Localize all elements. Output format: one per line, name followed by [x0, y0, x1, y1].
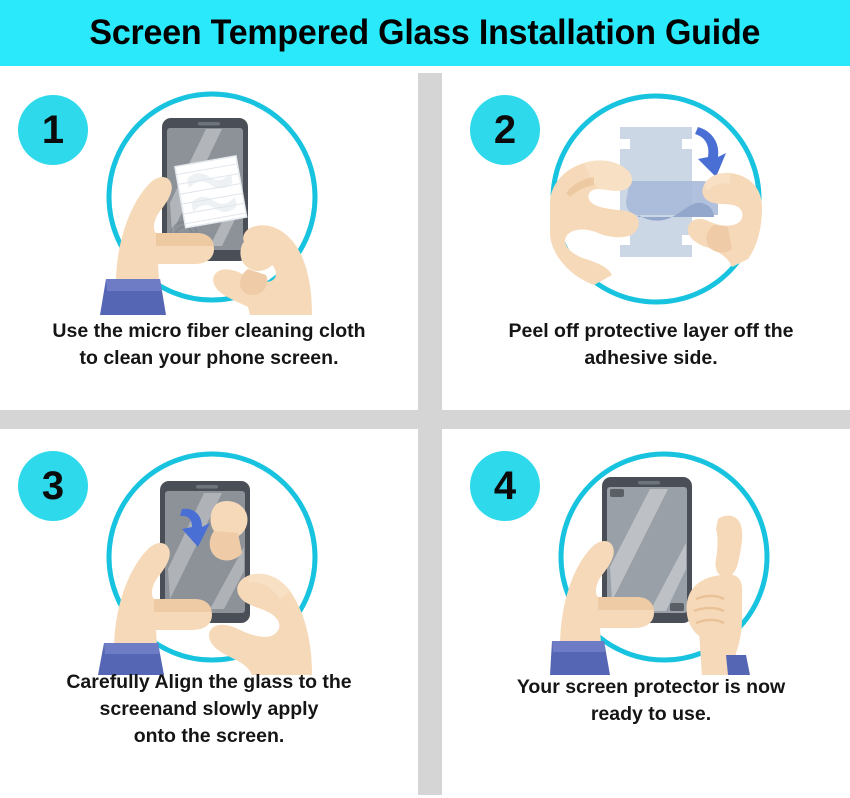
caption-line: to clean your phone screen.	[10, 345, 408, 372]
caption-line: adhesive side.	[452, 345, 850, 372]
illustration-thumbs-up	[550, 443, 778, 675]
step-panel-2: 2	[442, 73, 850, 410]
step-panel-3: 3	[0, 429, 418, 766]
step-number-badge: 3	[18, 451, 88, 521]
page-header: Screen Tempered Glass Installation Guide	[0, 0, 850, 66]
step-panel-4: 4	[442, 429, 850, 766]
illustration-align-glass	[98, 443, 326, 675]
step-caption-3: Carefully Align the glass to the screena…	[10, 669, 408, 750]
step-number-badge: 4	[470, 451, 540, 521]
step-caption-2: Peel off protective layer off the adhesi…	[452, 318, 850, 372]
caption-line: Your screen protector is now	[452, 674, 850, 701]
horizontal-divider	[0, 410, 850, 429]
caption-line: Use the micro fiber cleaning cloth	[10, 318, 408, 345]
caption-line: ready to use.	[452, 701, 850, 728]
illustration-peel-film	[542, 85, 770, 317]
step-panel-1: 1	[0, 73, 418, 410]
installation-guide-page: Screen Tempered Glass Installation Guide…	[0, 0, 850, 798]
step-caption-1: Use the micro fiber cleaning cloth to cl…	[10, 318, 408, 372]
step-caption-4: Your screen protector is now ready to us…	[452, 674, 850, 728]
caption-line: Peel off protective layer off the	[452, 318, 850, 345]
page-title: Screen Tempered Glass Installation Guide	[90, 13, 761, 53]
illustration-cleaning-cloth	[98, 83, 326, 315]
caption-line: onto the screen.	[10, 723, 408, 750]
caption-line: screenand slowly apply	[10, 696, 408, 723]
step-number-badge: 1	[18, 95, 88, 165]
vertical-divider	[418, 73, 442, 795]
caption-line: Carefully Align the glass to the	[10, 669, 408, 696]
step-number-badge: 2	[470, 95, 540, 165]
